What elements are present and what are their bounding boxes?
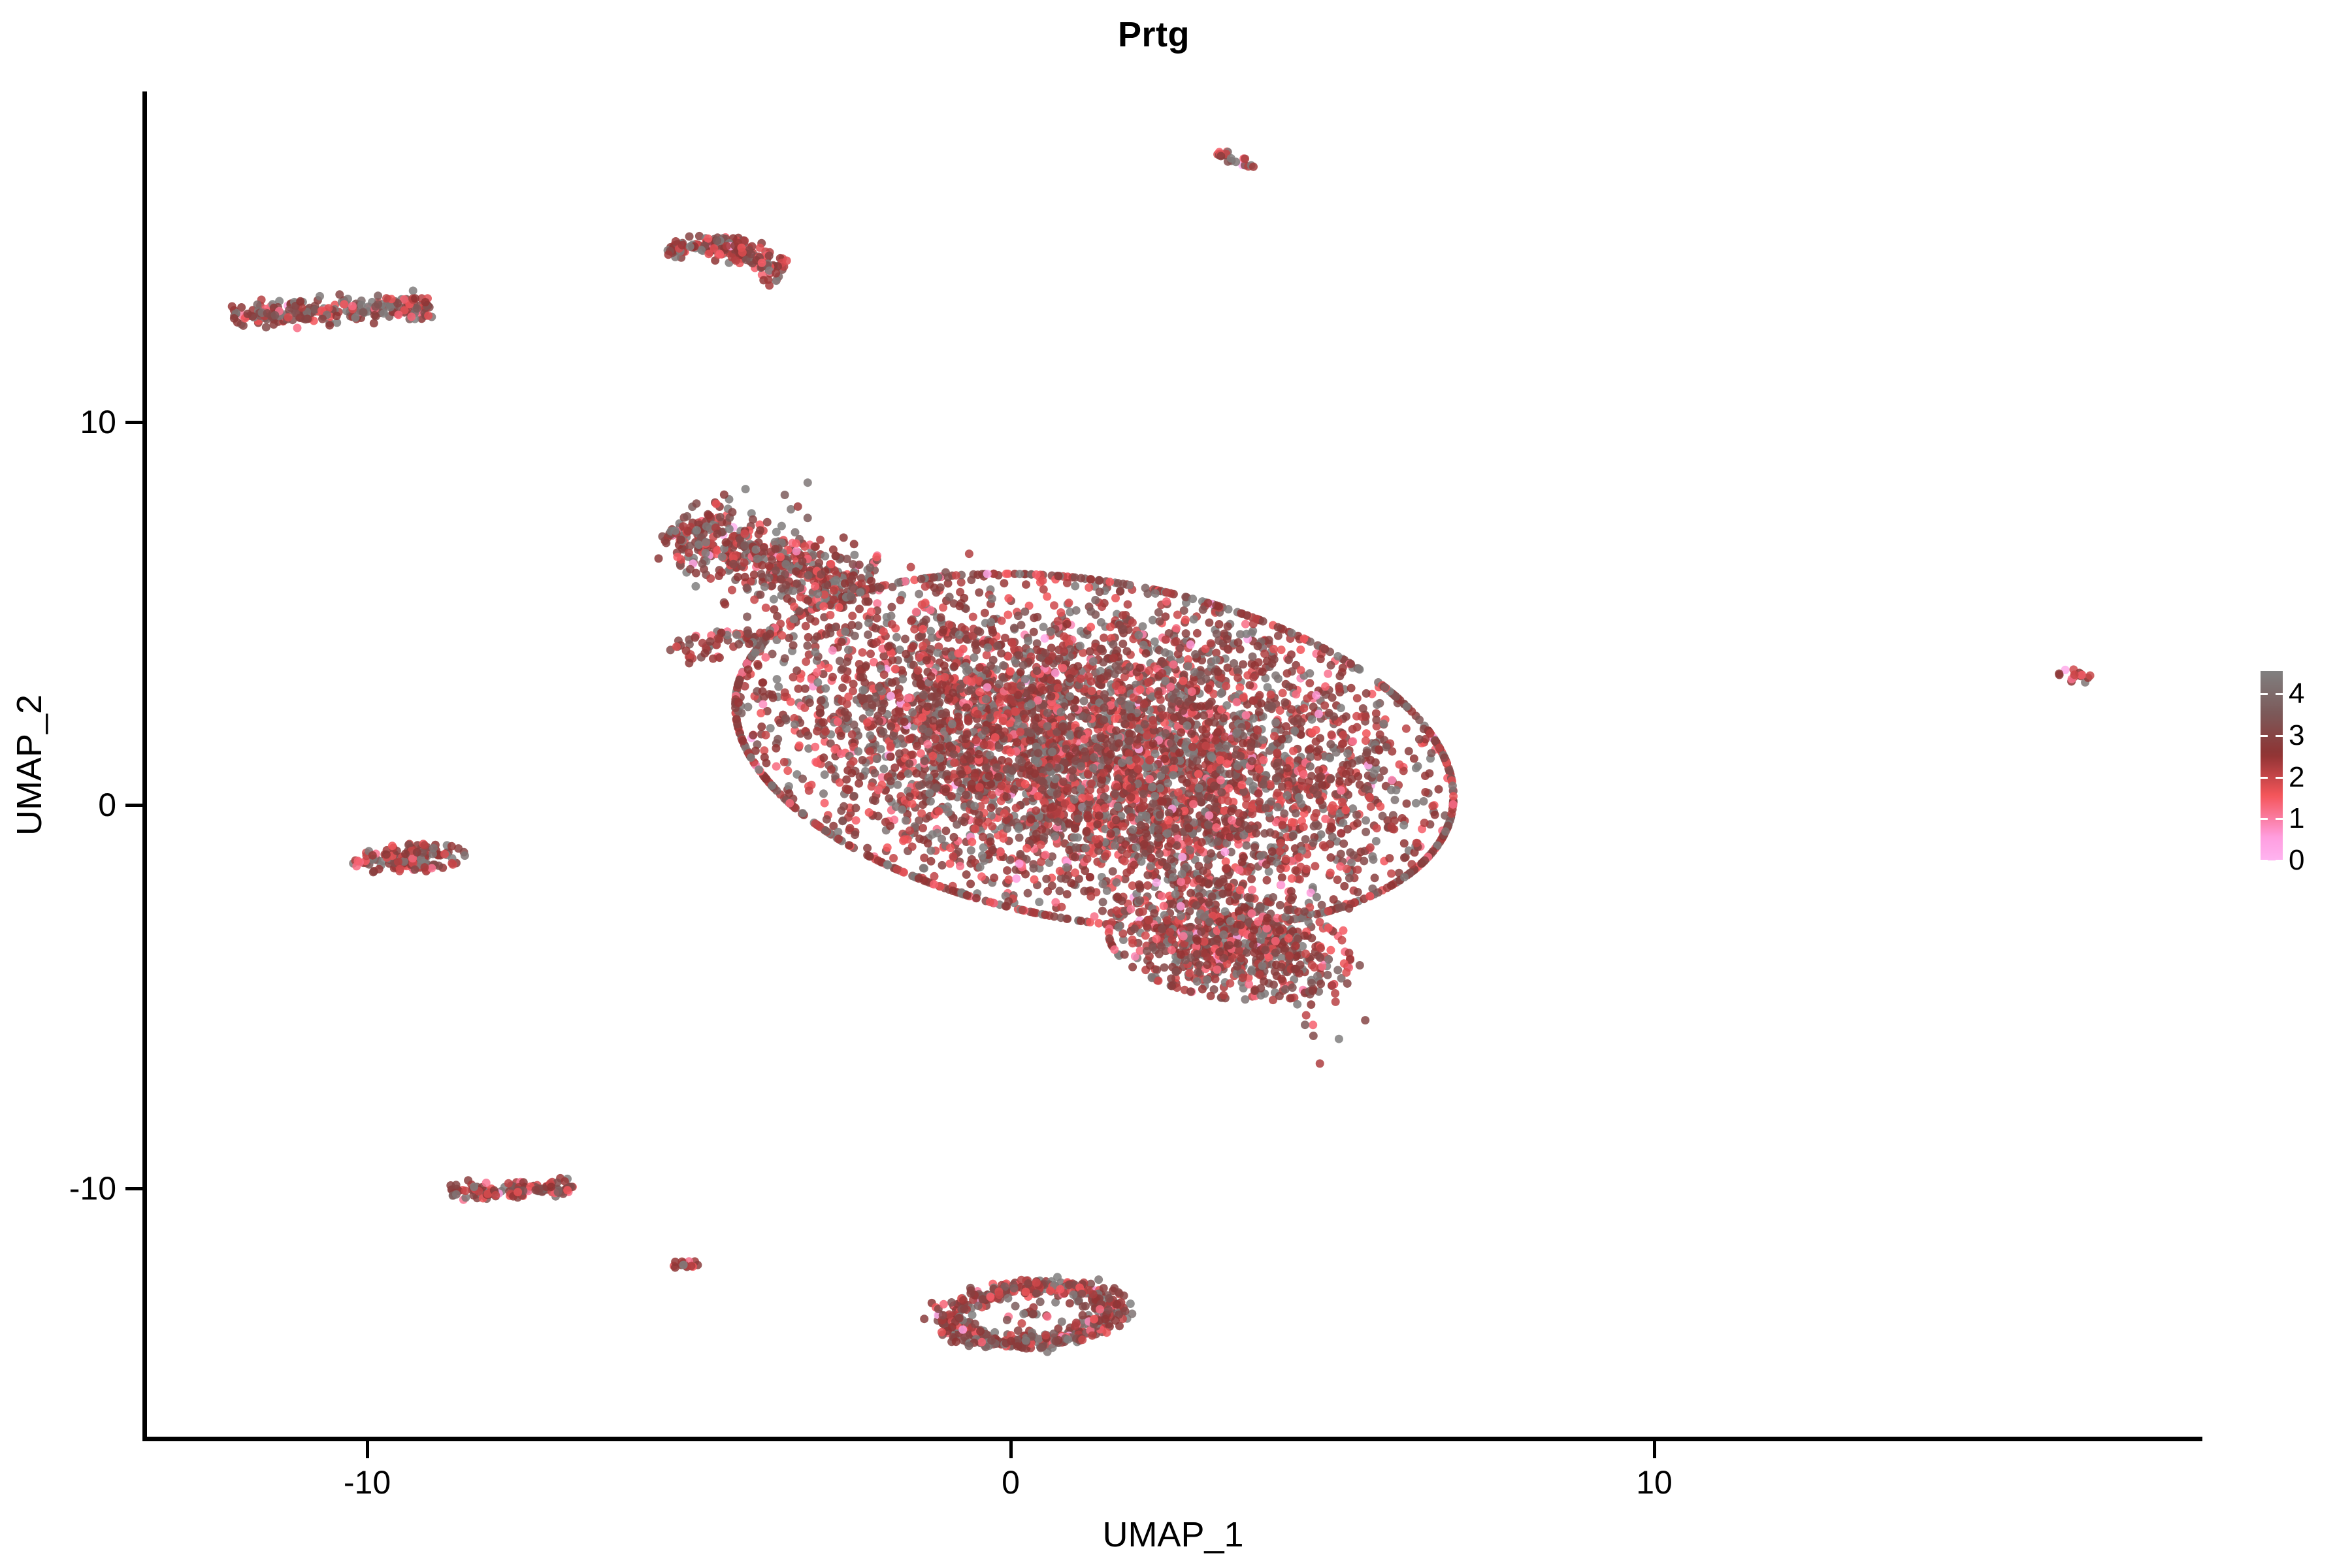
colorbar-tick-label: 2	[2289, 761, 2304, 794]
colorbar-legend: 4 3 2 1 0	[2257, 660, 2349, 875]
x-axis-tick-label: 10	[1636, 1463, 1673, 1501]
x-axis-label: UMAP_1	[144, 1514, 2202, 1555]
plot-title-text: Prtg	[1118, 14, 1190, 55]
y-axis-label: UMAP_2	[9, 694, 50, 836]
colorbar-tick-label: 0	[2289, 844, 2304, 877]
colorbar-gradient	[2261, 671, 2283, 860]
umap-feature-plot: Prtg -10 0 10 10 0 -10 UMAP_1 UMAP_2 4 3…	[0, 0, 2352, 1568]
colorbar-tick-mark	[2276, 860, 2283, 862]
colorbar-tick-label: 1	[2289, 802, 2304, 835]
x-axis-tick-mark	[366, 1441, 369, 1458]
page-title: Prtg	[0, 14, 2352, 55]
x-axis-tick-label: -10	[344, 1463, 391, 1501]
colorbar-tick-mark	[2261, 693, 2268, 695]
colorbar-tick-mark	[2276, 777, 2283, 779]
colorbar-tick-mark	[2276, 693, 2283, 695]
colorbar-tick-label: 4	[2289, 678, 2304, 710]
y-axis-label-wrap: UMAP_2	[0, 91, 59, 1439]
plot-panel	[144, 91, 2202, 1439]
colorbar-tick-mark	[2276, 818, 2283, 820]
y-axis-line	[142, 91, 147, 1441]
y-axis-tick-mark	[125, 804, 142, 807]
x-axis-tick-mark	[1653, 1441, 1656, 1458]
x-axis-tick-label: 0	[1002, 1463, 1020, 1501]
y-axis-tick-mark	[125, 1187, 142, 1190]
colorbar-tick-label: 3	[2289, 719, 2304, 752]
colorbar-tick-mark	[2261, 777, 2268, 779]
y-axis-tick-mark	[125, 421, 142, 424]
colorbar-tick-mark	[2276, 735, 2283, 737]
colorbar-tick-mark	[2261, 860, 2268, 862]
colorbar-tick-mark	[2261, 818, 2268, 820]
x-axis-line	[142, 1437, 2202, 1441]
colorbar-tick-mark	[2261, 735, 2268, 737]
x-axis-tick-mark	[1009, 1441, 1013, 1458]
